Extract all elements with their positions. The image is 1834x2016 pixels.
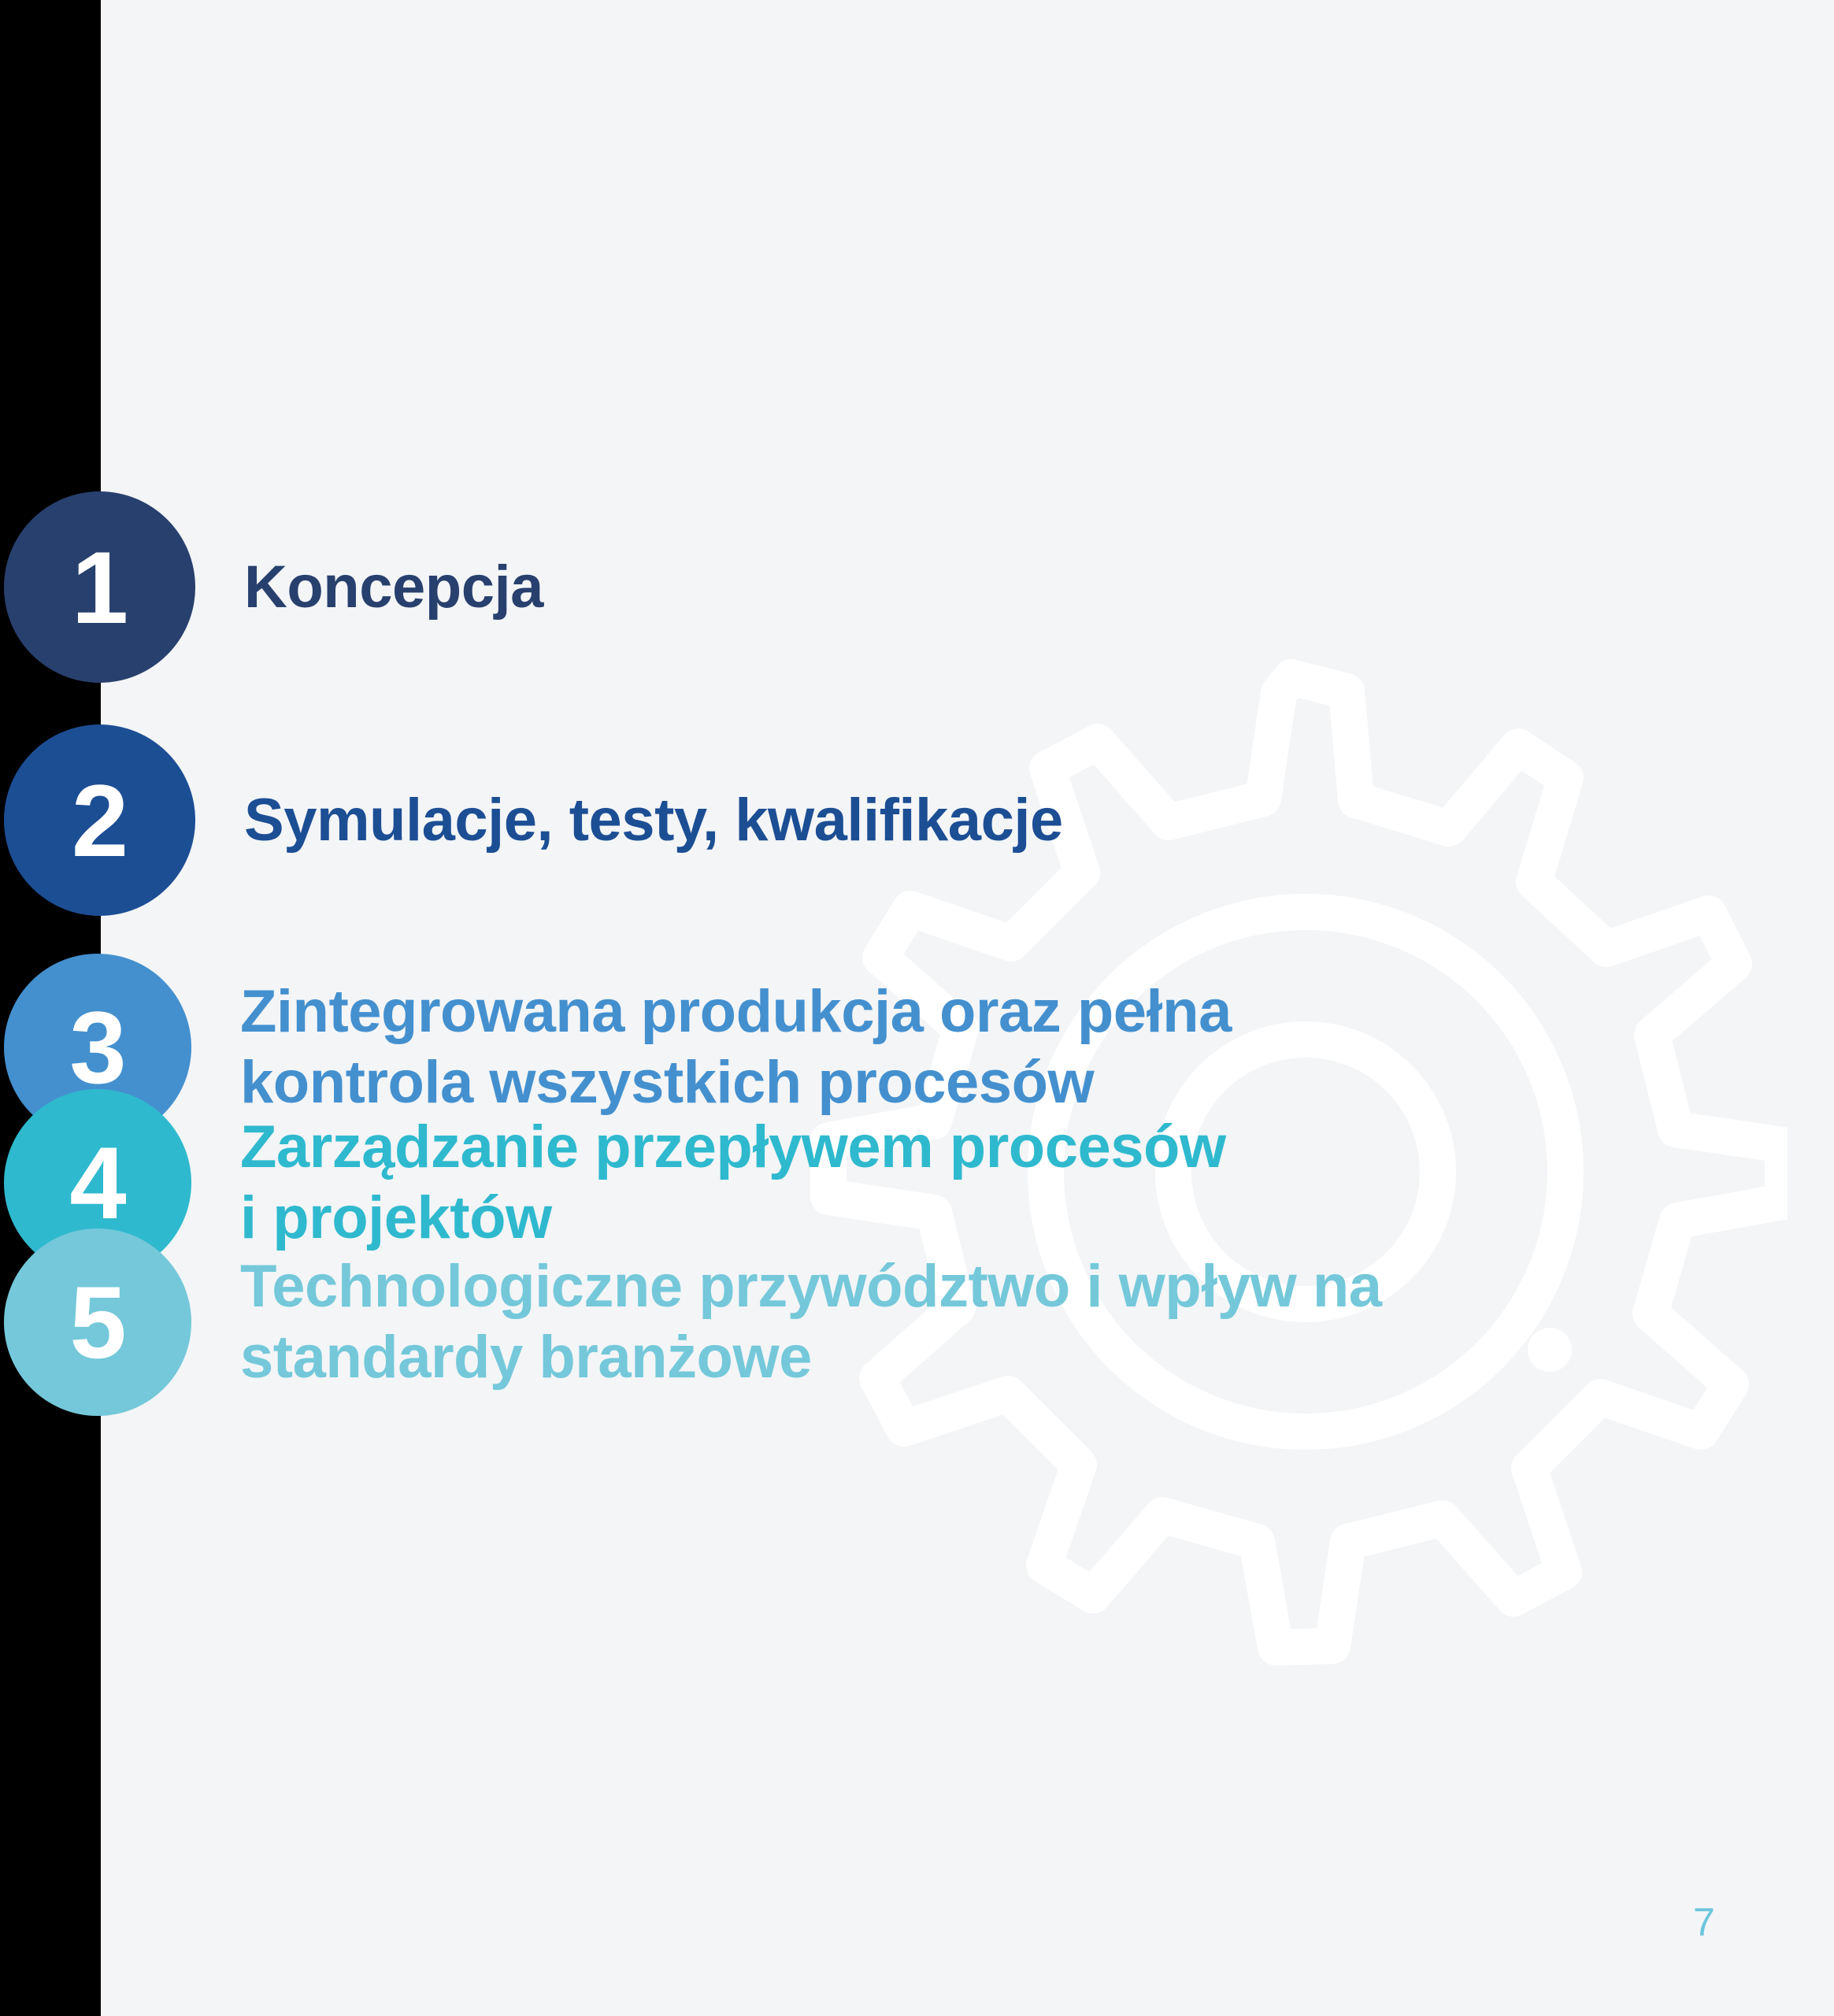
step-number-1: 1 — [72, 536, 128, 639]
step-label-2: Symulacje, testy, kwalifikacje — [244, 785, 1063, 856]
step-label-1: Koncepcja — [244, 552, 543, 623]
step-badge-2[interactable]: 2 — [4, 724, 195, 916]
step-label-5: Technologiczne przywództwo i wpływ na st… — [240, 1251, 1382, 1392]
step-badge-1[interactable]: 1 — [4, 491, 195, 683]
step-number-5: 5 — [69, 1271, 125, 1373]
step-row-2[interactable]: 2 Symulacje, testy, kwalifikacje — [0, 724, 1834, 916]
steps-list: 1 Koncepcja 2 Symulacje, testy, kwalifik… — [0, 0, 1834, 2016]
step-row-1[interactable]: 1 Koncepcja — [0, 491, 1834, 683]
step-row-5[interactable]: 5 Technologiczne przywództwo i wpływ na … — [0, 1228, 1834, 1416]
step-number-2: 2 — [72, 769, 128, 872]
slide-canvas: 1 Koncepcja 2 Symulacje, testy, kwalifik… — [0, 0, 1834, 2016]
step-badge-5[interactable]: 5 — [4, 1228, 191, 1416]
step-number-4: 4 — [69, 1132, 125, 1234]
step-number-3: 3 — [69, 996, 125, 1099]
page-number: 7 — [1693, 1899, 1715, 1945]
